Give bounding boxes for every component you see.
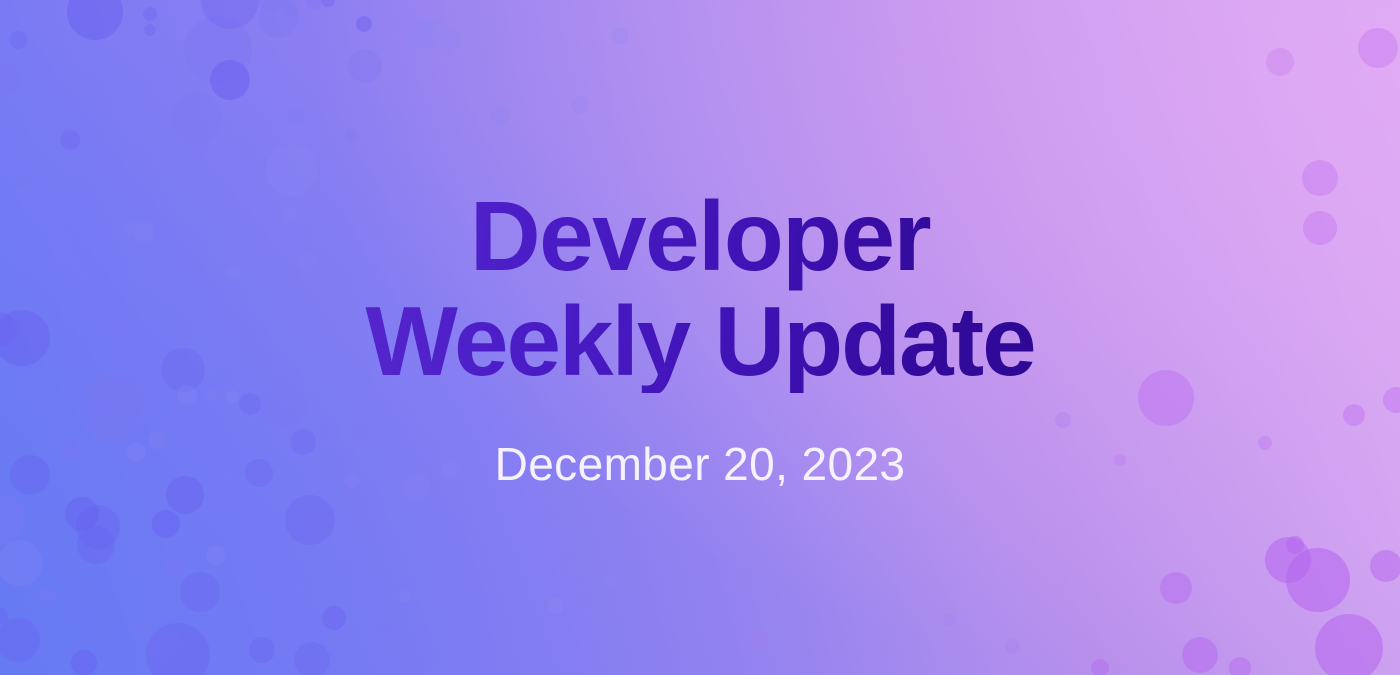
title-line-1: Developer [365,184,1034,289]
banner-date: December 20, 2023 [495,437,906,491]
banner-title: Developer Weekly Update [359,184,1040,394]
banner-content: Developer Weekly Update December 20, 202… [0,0,1400,675]
newsletter-banner: Developer Weekly Update December 20, 202… [0,0,1400,675]
title-line-2: Weekly Update [365,289,1034,394]
